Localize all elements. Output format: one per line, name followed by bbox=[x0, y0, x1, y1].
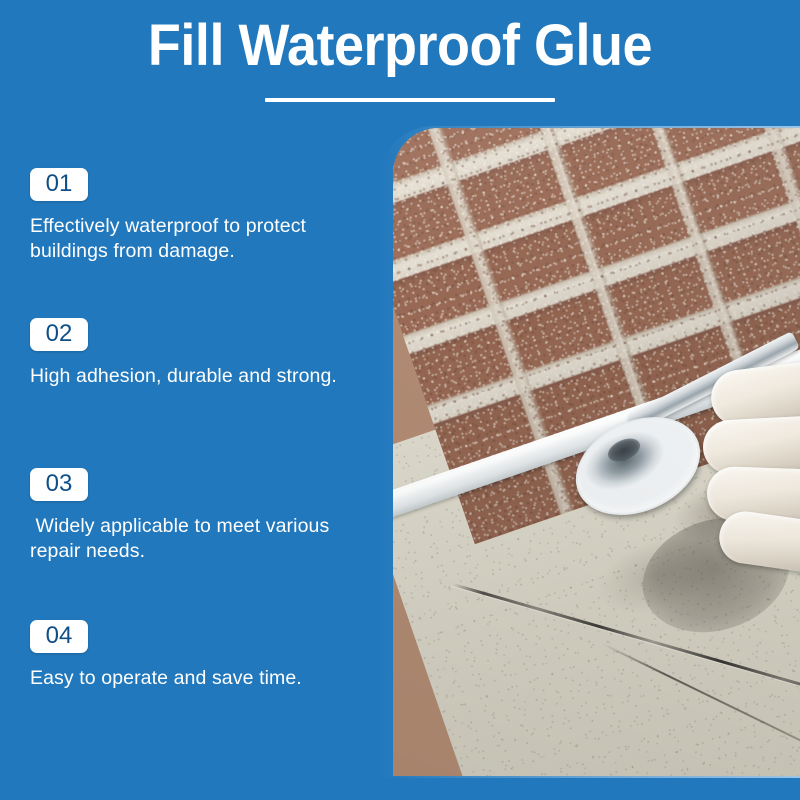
feature-text-01: Effectively waterproof to protect buildi… bbox=[30, 214, 370, 264]
feature-text-02: High adhesion, durable and strong. bbox=[30, 364, 370, 389]
gloved-hand bbox=[693, 364, 800, 574]
feature-text-04: Easy to operate and save time. bbox=[30, 666, 370, 691]
glove-finger-2 bbox=[702, 415, 800, 476]
feature-text-03: Widely applicable to meet various repair… bbox=[30, 514, 370, 564]
header: Fill Waterproof Glue bbox=[0, 0, 800, 120]
feature-badge-01: 01 bbox=[30, 168, 88, 201]
page-title: Fill Waterproof Glue bbox=[28, 14, 772, 78]
feature-badge-03: 03 bbox=[30, 468, 88, 501]
photo-scene bbox=[393, 128, 800, 776]
feature-badge-02: 02 bbox=[30, 318, 88, 351]
title-underline bbox=[265, 98, 555, 102]
glove-finger-4 bbox=[716, 508, 800, 576]
feature-item-02: 02 High adhesion, durable and strong. bbox=[30, 318, 380, 389]
feature-item-01: 01 Effectively waterproof to protect bui… bbox=[30, 168, 380, 264]
feature-item-03: 03 Widely applicable to meet various rep… bbox=[30, 468, 380, 564]
product-feature-poster: Fill Waterproof Glue 01 Effectively wate… bbox=[0, 0, 800, 800]
feature-badge-04: 04 bbox=[30, 620, 88, 653]
product-photo bbox=[393, 128, 800, 776]
feature-item-04: 04 Easy to operate and save time. bbox=[30, 620, 380, 691]
